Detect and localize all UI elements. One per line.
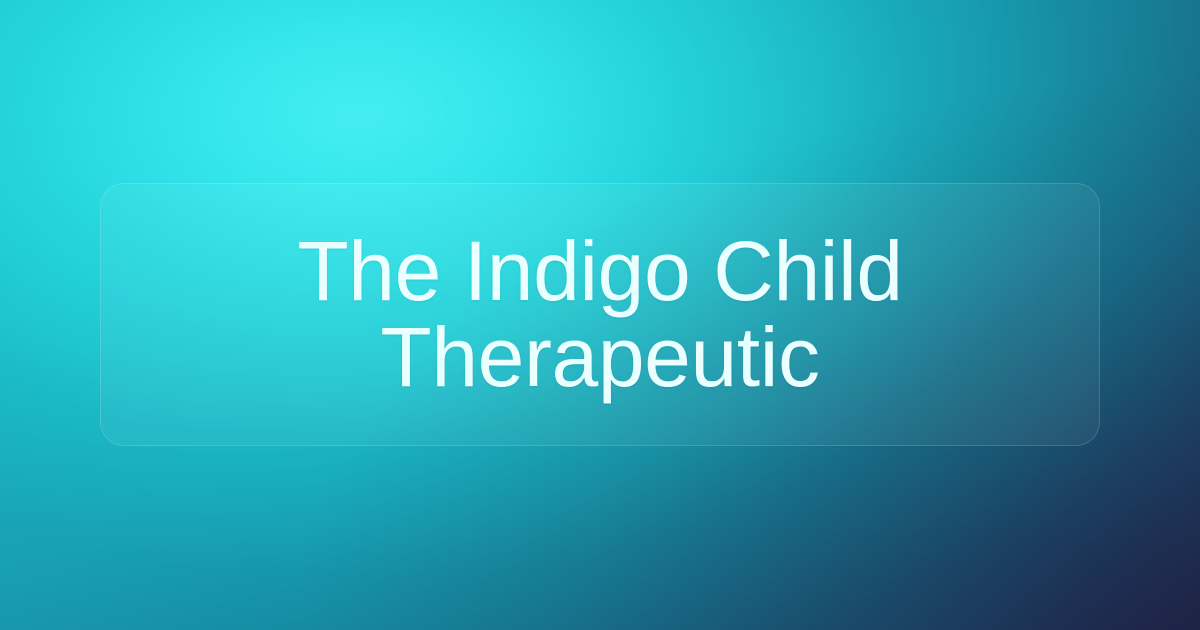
page-title: The Indigo Child Therapeutic bbox=[101, 229, 1099, 400]
og-image-canvas: The Indigo Child Therapeutic bbox=[0, 0, 1200, 630]
title-card: The Indigo Child Therapeutic bbox=[100, 183, 1100, 446]
